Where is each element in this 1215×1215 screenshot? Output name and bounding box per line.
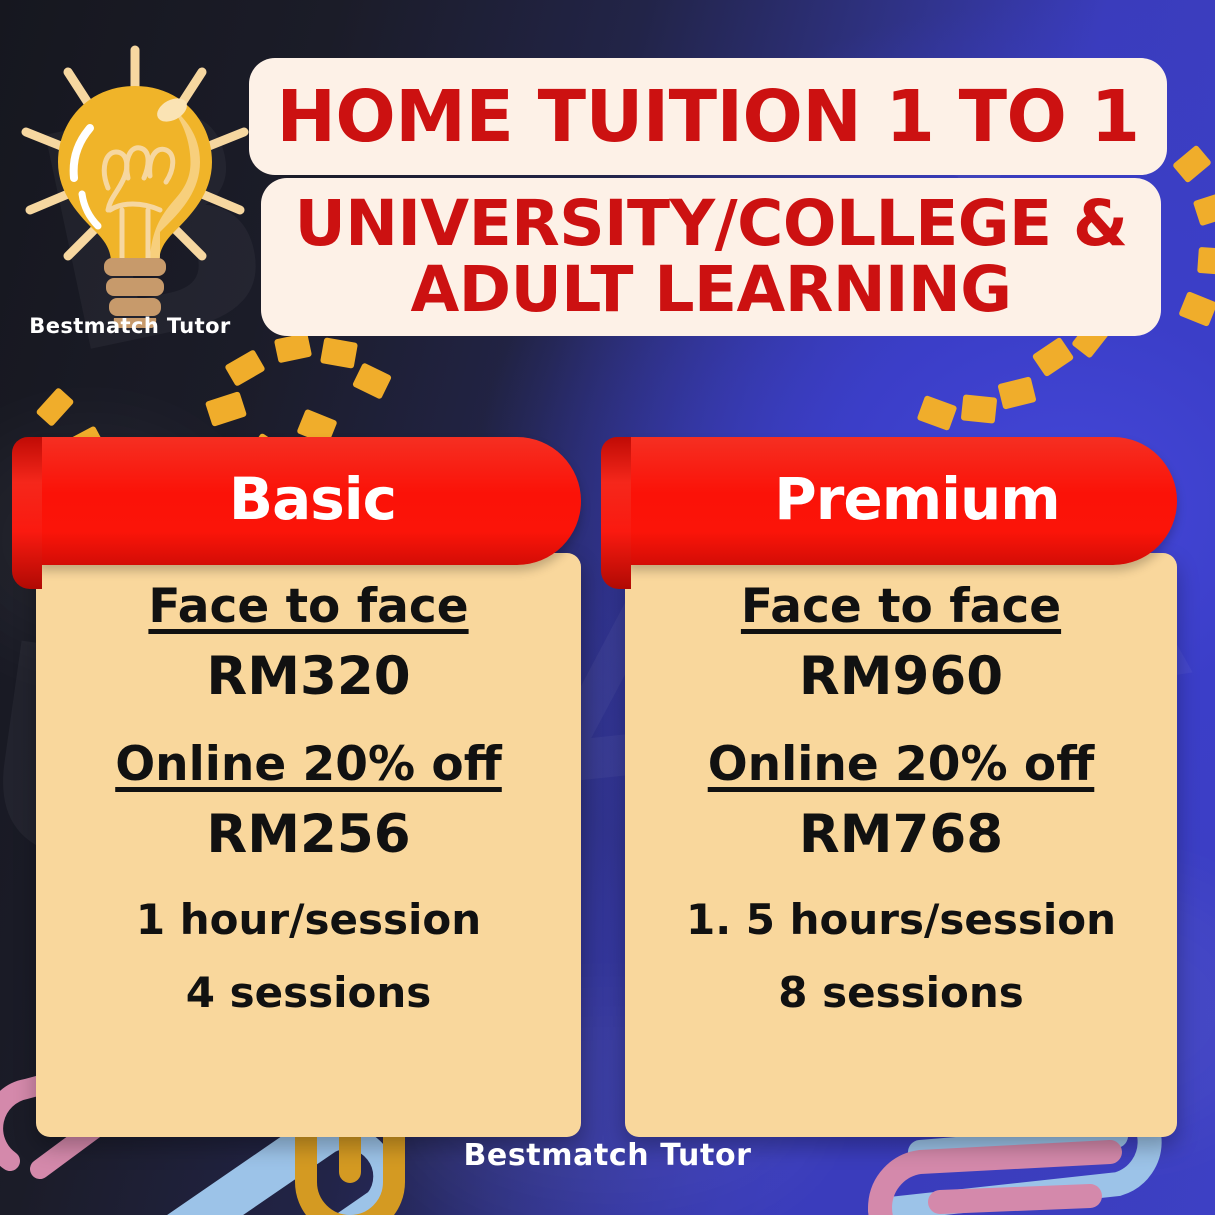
facetoface-price-basic: RM320 <box>54 646 563 707</box>
plan-ribbon-premium: Premium <box>627 437 1177 565</box>
online-price-premium: RM768 <box>643 804 1159 865</box>
lightbulb-icon <box>10 28 260 328</box>
pricing-card-premium[interactable]: Premium Face to face RM960 Online 20% of… <box>625 437 1177 1137</box>
duration-basic: 1 hour/session <box>54 895 563 944</box>
facetoface-price-premium: RM960 <box>643 646 1159 707</box>
facetoface-label-premium: Face to face <box>643 579 1159 634</box>
facetoface-label-basic: Face to face <box>54 579 563 634</box>
plan-details-premium: Face to face RM960 Online 20% off RM768 … <box>625 553 1177 1137</box>
online-label-basic: Online 20% off <box>54 737 563 792</box>
page-title: HOME TUITION 1 TO 1 <box>249 58 1167 175</box>
plan-name-premium: Premium <box>774 465 1060 533</box>
promotional-poster: B U 4 S A C 7 <box>0 0 1215 1215</box>
subtitle-line-1: UNIVERSITY/COLLEGE & <box>295 192 1128 256</box>
online-price-basic: RM256 <box>54 804 563 865</box>
sessions-basic: 4 sessions <box>54 968 563 1017</box>
duration-premium: 1. 5 hours/session <box>643 895 1159 944</box>
plan-name-basic: Basic <box>229 465 396 533</box>
logo-block: Bestmatch Tutor <box>10 28 260 338</box>
footer-brand-text: Bestmatch Tutor <box>0 1138 1215 1173</box>
ribbon-fold-icon <box>601 437 631 589</box>
pricing-card-basic[interactable]: Basic Face to face RM320 Online 20% off … <box>36 437 581 1137</box>
subtitle-line-2: ADULT LEARNING <box>411 258 1012 322</box>
logo-brand-text: Bestmatch Tutor <box>10 314 250 338</box>
page-subtitle: UNIVERSITY/COLLEGE & ADULT LEARNING <box>261 178 1161 336</box>
ribbon-fold-icon <box>12 437 42 589</box>
online-label-premium: Online 20% off <box>643 737 1159 792</box>
plan-details-basic: Face to face RM320 Online 20% off RM256 … <box>36 553 581 1137</box>
sessions-premium: 8 sessions <box>643 968 1159 1017</box>
plan-ribbon-basic: Basic <box>38 437 581 565</box>
